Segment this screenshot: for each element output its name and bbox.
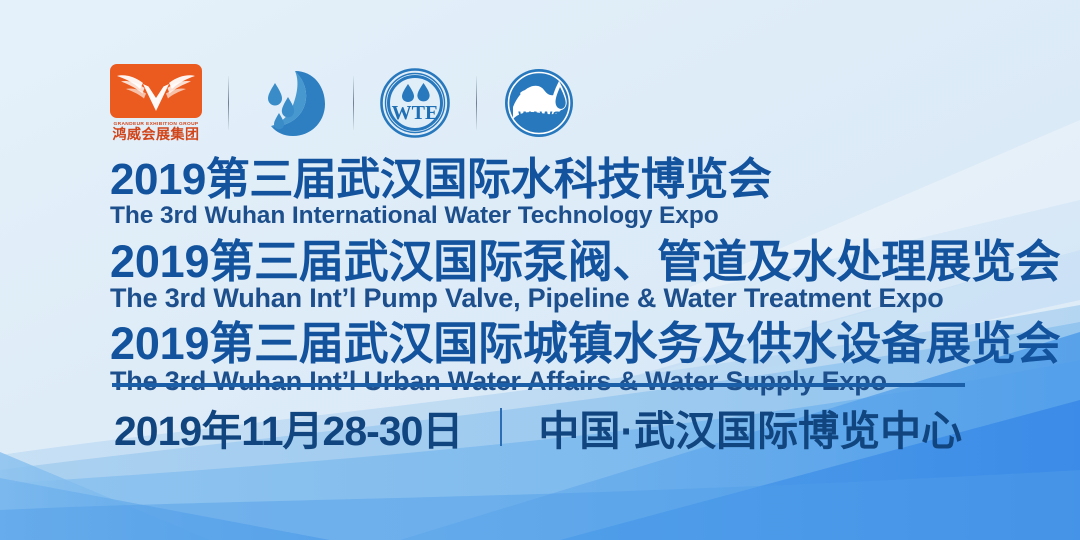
waws-wordmark: WAWS xyxy=(518,109,562,124)
waws-icon: WAWS xyxy=(503,67,575,139)
event-date: 2019年11月28-30日 xyxy=(114,397,462,457)
wte-wordmark: WTE xyxy=(392,102,439,124)
logo-waws: WAWS xyxy=(503,67,575,139)
title-1-cn: 2019第三届武汉国际水科技博览会 xyxy=(110,158,990,203)
title-3-cn: 2019第三届武汉国际城镇水务及供水设备展览会 xyxy=(110,321,990,367)
grandeur-mark-icon xyxy=(110,64,202,118)
footer-row: 2019年11月28-30日 中国·武汉国际博览中心 xyxy=(114,398,962,456)
footer-separator xyxy=(500,408,502,446)
logo-water-drop xyxy=(255,67,327,139)
footer-divider xyxy=(112,383,965,387)
title-block-pump-valve: 2019第三届武汉国际泵阀、管道及水处理展览会 The 3rd Wuhan In… xyxy=(110,239,990,313)
expo-banner: GRANDEUR EXHIBITION GROUP 鸿威会展集团 xyxy=(0,0,1080,540)
logo-row: GRANDEUR EXHIBITION GROUP 鸿威会展集团 xyxy=(110,62,575,144)
event-venue: 中国·武汉国际博览中心 xyxy=(538,397,962,457)
grandeur-caption-cn: 鸿威会展集团 xyxy=(110,126,202,142)
grandeur-caption-en: GRANDEUR EXHIBITION GROUP xyxy=(108,121,205,126)
title-3-en: The 3rd Wuhan Int’l Urban Water Affairs … xyxy=(110,367,990,395)
logo-separator-1 xyxy=(228,76,229,130)
logo-separator-3 xyxy=(476,76,477,130)
water-drop-icon xyxy=(255,67,327,139)
title-block-water-technology: 2019第三届武汉国际水科技博览会 The 3rd Wuhan Internat… xyxy=(110,158,990,229)
title-2-en: The 3rd Wuhan Int’l Pump Valve, Pipeline… xyxy=(110,284,990,312)
title-1-en: The 3rd Wuhan International Water Techno… xyxy=(110,203,990,229)
wte-icon: WTE xyxy=(380,68,450,138)
logo-wte: WTE xyxy=(380,68,450,138)
logo-separator-2 xyxy=(353,76,354,130)
title-group: 2019第三届武汉国际水科技博览会 The 3rd Wuhan Internat… xyxy=(110,158,990,398)
title-2-cn: 2019第三届武汉国际泵阀、管道及水处理展览会 xyxy=(110,239,990,285)
logo-grandeur-exhibition-group: GRANDEUR EXHIBITION GROUP 鸿威会展集团 xyxy=(110,64,202,142)
